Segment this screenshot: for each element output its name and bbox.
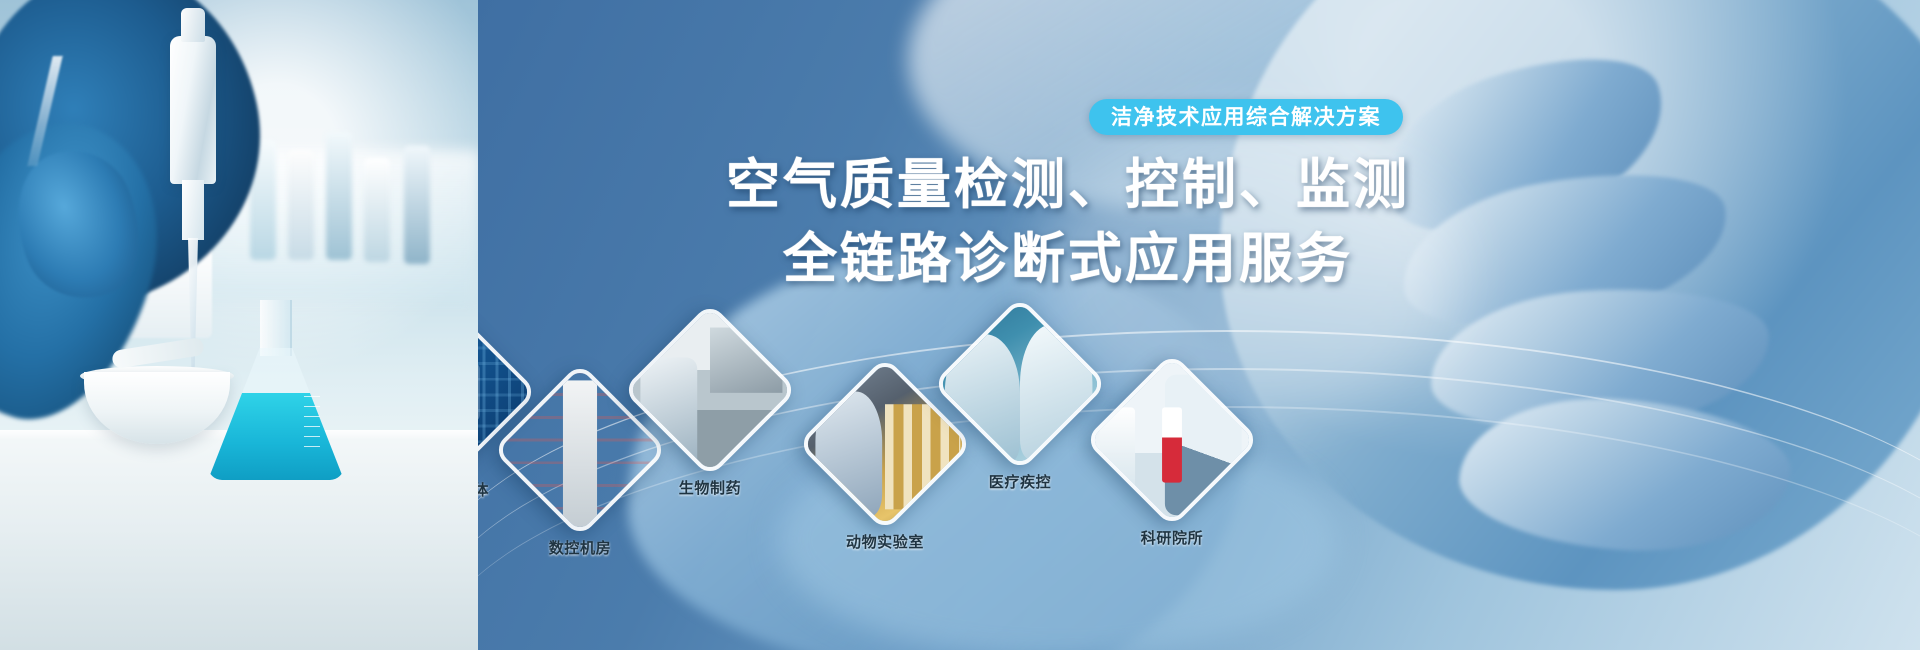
industry-card-label-animal-lab: 动物实验室 — [790, 531, 980, 552]
test-tube — [326, 132, 352, 260]
industry-card-research[interactable] — [1084, 352, 1259, 527]
industry-card-label-datacenter: 数控机房 — [485, 537, 675, 558]
hero-banner: 洁净技术应用综合解决方案 空气质量检测、控制、监测 全链路诊断式应用服务 电子半… — [0, 0, 1920, 650]
erlenmeyer-flask — [208, 300, 344, 480]
flask-neck — [260, 300, 292, 356]
test-tube — [364, 158, 390, 262]
pipette-body — [170, 36, 216, 184]
industry-card-row: 电子半导体 数控机房 生物制药 动物实验室 医疗疾控 科研院所 — [478, 0, 1920, 650]
industry-card-label-medical: 医疗疾控 — [925, 471, 1115, 492]
flask-graduation-marks — [304, 396, 330, 466]
research-thumbnail — [1090, 358, 1255, 523]
industry-card-label-biopharma: 生物制药 — [615, 477, 805, 498]
pipette-neck — [182, 180, 204, 240]
industry-card-label-research: 科研院所 — [1077, 527, 1267, 548]
left-laboratory-photo — [0, 0, 478, 650]
test-tube — [404, 146, 430, 264]
pipette-plunger — [181, 8, 205, 42]
test-tube — [288, 150, 314, 260]
hero-right-panel: 洁净技术应用综合解决方案 空气质量检测、控制、监测 全链路诊断式应用服务 电子半… — [478, 0, 1920, 650]
